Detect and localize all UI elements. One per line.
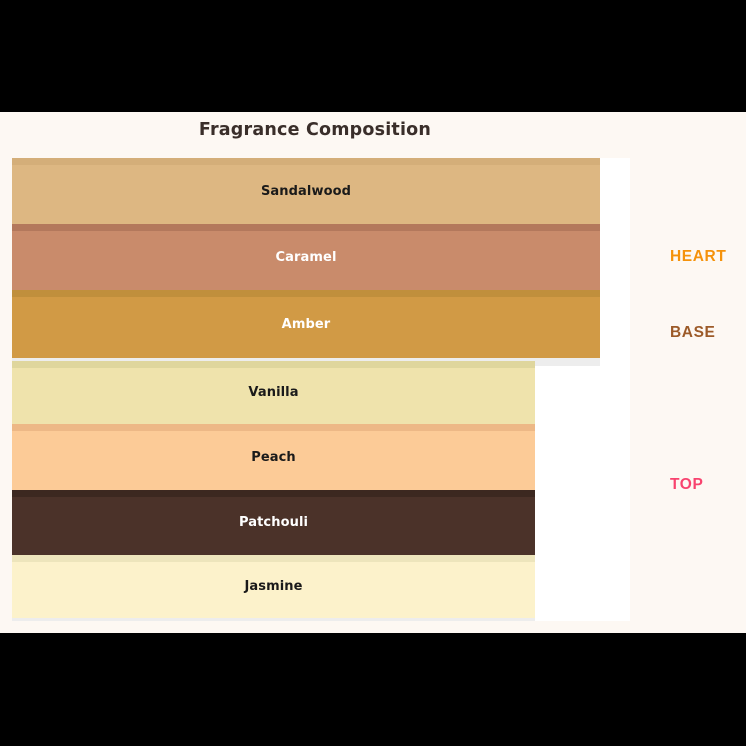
chart-figure-panel: Fragrance Composition Sandalwood Caramel: [0, 112, 746, 633]
bar-label-amber: Amber: [282, 318, 331, 331]
bar-jasmine[interactable]: Jasmine: [12, 555, 535, 618]
bar-label-caramel: Caramel: [275, 251, 336, 264]
bar-patchouli[interactable]: Patchouli: [12, 490, 535, 555]
bar-label-jasmine: Jasmine: [244, 580, 302, 593]
bar-top-face-patchouli: [12, 490, 535, 497]
bar-vanilla[interactable]: Vanilla: [12, 361, 535, 424]
bar-label-peach: Peach: [251, 451, 296, 464]
bar-peach[interactable]: Peach: [12, 424, 535, 490]
annotation-heart: HEART: [670, 248, 726, 266]
bar-label-patchouli: Patchouli: [239, 516, 308, 529]
bar-caramel[interactable]: Caramel: [12, 224, 600, 290]
bar-label-sandalwood: Sandalwood: [261, 185, 351, 198]
annotation-top: TOP: [670, 476, 703, 494]
bar-top-face-caramel: [12, 224, 600, 231]
screenshot-root: Fragrance Composition Sandalwood Caramel: [0, 0, 746, 746]
bar-top-face-peach: [12, 424, 535, 431]
bar-top-face-jasmine: [12, 555, 535, 562]
bar-top-face-vanilla: [12, 361, 535, 368]
plot-area: Sandalwood Caramel Amber Vanilla Peach: [12, 158, 630, 621]
annotation-base: BASE: [670, 324, 715, 342]
bar-top-face-sandalwood: [12, 158, 600, 165]
page-title: Fragrance Composition: [0, 120, 630, 140]
bar-sandalwood[interactable]: Sandalwood: [12, 158, 600, 224]
bar-amber[interactable]: Amber: [12, 290, 600, 358]
bar-top-face-amber: [12, 290, 600, 297]
bar-label-vanilla: Vanilla: [248, 386, 298, 399]
